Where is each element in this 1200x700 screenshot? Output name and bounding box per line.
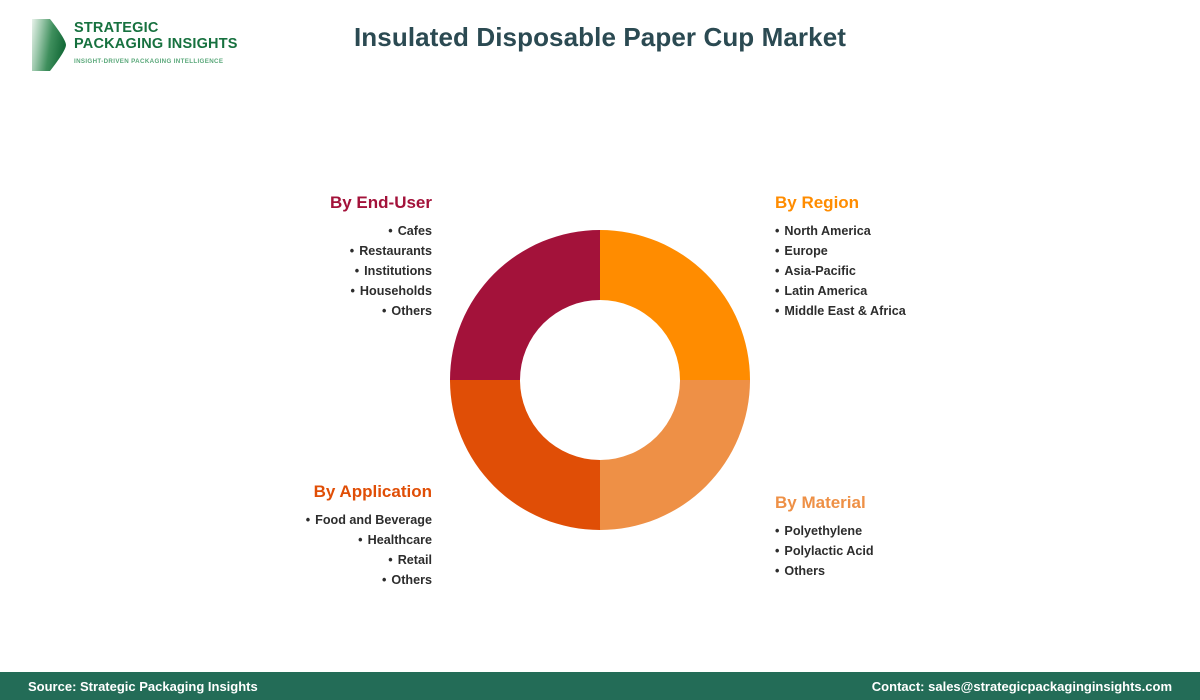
list-item: Institutions <box>232 261 432 281</box>
segment-list-region: North AmericaEuropeAsia-PacificLatin Ame… <box>775 221 1005 321</box>
segment-list-material: PolyethylenePolylactic AcidOthers <box>775 521 1005 581</box>
segment-block-material: By Material PolyethylenePolylactic AcidO… <box>775 493 1005 581</box>
donut-slice-application <box>450 380 600 530</box>
list-item: Asia-Pacific <box>775 261 1005 281</box>
list-item: Retail <box>232 550 432 570</box>
segment-list-end-user: CafesRestaurantsInstitutionsHouseholdsOt… <box>232 221 432 321</box>
list-item: Europe <box>775 241 1005 261</box>
list-item: Healthcare <box>232 530 432 550</box>
segment-title-material: By Material <box>775 493 1005 513</box>
segment-title-end-user: By End-User <box>232 193 432 213</box>
list-item: North America <box>775 221 1005 241</box>
segment-block-region: By Region North AmericaEuropeAsia-Pacifi… <box>775 193 1005 321</box>
donut-slice-region <box>600 230 750 380</box>
list-item: Polyethylene <box>775 521 1005 541</box>
page-title: Insulated Disposable Paper Cup Market <box>0 22 1200 53</box>
footer-bar: Source: Strategic Packaging Insights Con… <box>0 672 1200 700</box>
list-item: Polylactic Acid <box>775 541 1005 561</box>
segment-block-application: By Application Food and BeverageHealthca… <box>232 482 432 590</box>
segment-block-end-user: By End-User CafesRestaurantsInstitutions… <box>232 193 432 321</box>
donut-slice-material <box>600 380 750 530</box>
segment-title-application: By Application <box>232 482 432 502</box>
logo-tagline: INSIGHT-DRIVEN PACKAGING INTELLIGENCE <box>74 58 238 65</box>
list-item: Others <box>232 301 432 321</box>
list-item: Middle East & Africa <box>775 301 1005 321</box>
donut-chart <box>450 230 750 530</box>
segment-title-region: By Region <box>775 193 1005 213</box>
footer-contact: Contact: sales@strategicpackaginginsight… <box>872 679 1172 694</box>
list-item: Restaurants <box>232 241 432 261</box>
segment-list-application: Food and BeverageHealthcareRetailOthers <box>232 510 432 590</box>
donut-slice-end-user <box>450 230 600 380</box>
list-item: Others <box>232 570 432 590</box>
list-item: Latin America <box>775 281 1005 301</box>
list-item: Cafes <box>232 221 432 241</box>
list-item: Food and Beverage <box>232 510 432 530</box>
list-item: Households <box>232 281 432 301</box>
list-item: Others <box>775 561 1005 581</box>
footer-source: Source: Strategic Packaging Insights <box>28 679 258 694</box>
